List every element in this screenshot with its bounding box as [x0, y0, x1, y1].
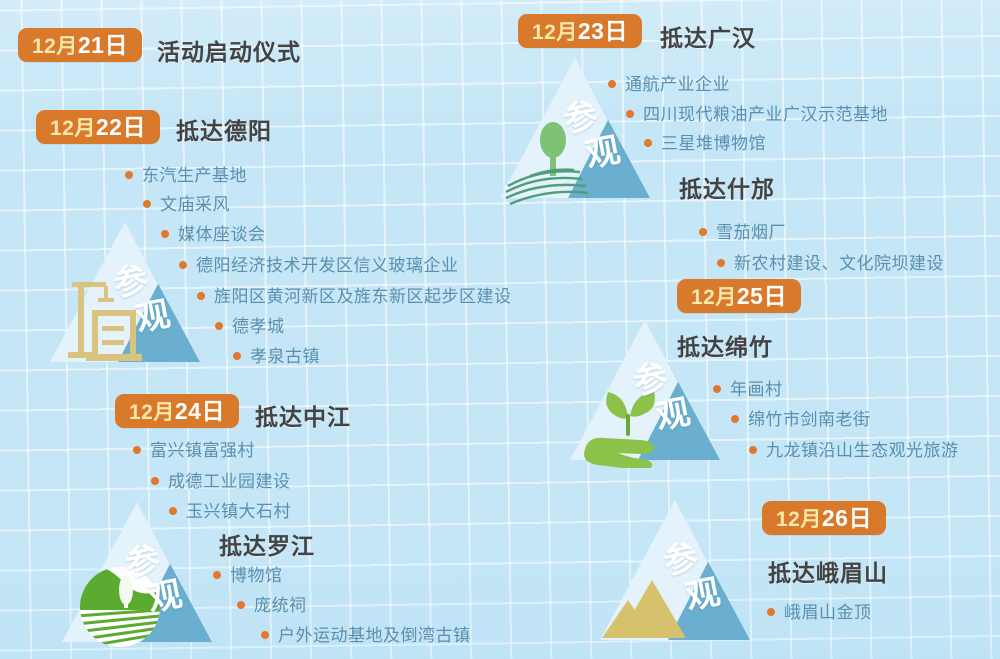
list-item: 峨眉山金顶	[767, 598, 872, 623]
badge-month: 12月	[776, 508, 822, 531]
list-item: 通航产业企业	[608, 70, 730, 95]
list-item: 三星堆博物馆	[644, 129, 766, 154]
list-item-label: 四川现代粮油产业广汉示范基地	[643, 105, 888, 124]
list-item-label: 峨眉山金顶	[784, 603, 872, 622]
list-item: 雪茄烟厂	[699, 218, 786, 243]
list-item: 九龙镇沿山生态观光旅游	[749, 436, 959, 461]
date-badge-dec26: 12月26日	[762, 501, 886, 535]
infographic-canvas: 12月21日 活动启动仪式 12月22日 抵达德阳 参	[0, 0, 1000, 659]
list-item-label: 德孝城	[232, 317, 285, 336]
list-item: 新农村建设、文化院坝建设	[717, 249, 944, 274]
list-item: 旌阳区黄河新区及旌东新区起步区建设	[197, 282, 512, 307]
list-item: 户外运动基地及倒湾古镇	[261, 621, 471, 646]
list-item-label: 绵竹市剑南老街	[748, 410, 871, 429]
badge-day: 26日	[822, 505, 872, 531]
emblem-char-1: 参	[561, 99, 601, 139]
bullet-dot	[161, 230, 169, 238]
list-item-label: 庞统祠	[254, 596, 307, 615]
bullet-dot	[233, 352, 241, 360]
badge-month: 12月	[691, 286, 737, 309]
bullet-dot	[151, 477, 159, 485]
list-item: 成德工业园建设	[151, 467, 291, 492]
date-badge-dec25: 12月25日	[677, 279, 801, 313]
list-item: 孝泉古镇	[233, 342, 320, 367]
emblem-char-1: 参	[631, 361, 671, 401]
list-item: 富兴镇富强村	[133, 436, 255, 461]
list-item-label: 三星堆博物馆	[661, 134, 766, 153]
badge-month: 12月	[50, 117, 96, 140]
list-item-label: 通航产业企业	[625, 75, 730, 94]
badge-day: 22日	[96, 114, 146, 140]
bullet-dot	[717, 259, 725, 267]
list-item-label: 新农村建设、文化院坝建设	[734, 254, 944, 273]
list-item-label: 九龙镇沿山生态观光旅游	[766, 441, 959, 460]
bullet-dot	[713, 385, 721, 393]
list-item-label: 富兴镇富强村	[150, 441, 255, 460]
date-badge-dec21: 12月21日	[18, 28, 142, 62]
list-item-label: 文庙采风	[160, 195, 230, 214]
bullet-dot	[215, 322, 223, 330]
emblem-char-2: 观	[653, 396, 693, 436]
bullet-dot	[237, 601, 245, 609]
section-heading-shifang: 抵达什邡	[679, 170, 775, 204]
bullet-dot	[644, 139, 652, 147]
list-item-label: 孝泉古镇	[250, 347, 320, 366]
emblem-char-1: 参	[111, 263, 151, 303]
list-item: 德孝城	[215, 312, 285, 337]
list-item-label: 成德工业园建设	[168, 472, 291, 491]
list-item-label: 旌阳区黄河新区及旌东新区起步区建设	[214, 287, 512, 306]
list-item-label: 雪茄烟厂	[716, 223, 786, 242]
date-badge-dec23: 12月23日	[518, 14, 642, 48]
badge-month: 12月	[32, 35, 78, 58]
bullet-dot	[125, 171, 133, 179]
badge-month: 12月	[129, 401, 175, 424]
bullet-dot	[626, 110, 634, 118]
list-item: 德阳经济技术开发区信义玻璃企业	[179, 251, 459, 276]
bullet-dot	[197, 292, 205, 300]
emblem-char-2: 观	[683, 576, 723, 616]
list-item-label: 年画村	[730, 380, 783, 399]
list-item: 媒体座谈会	[161, 220, 266, 245]
date-badge-dec24: 12月24日	[115, 394, 239, 428]
bullet-dot	[767, 608, 775, 616]
badge-day: 24日	[175, 398, 225, 424]
emblem-char-1: 参	[123, 543, 163, 583]
badge-day: 21日	[78, 32, 128, 58]
bullet-dot	[731, 415, 739, 423]
emblem-char-2: 观	[145, 578, 185, 618]
bullet-dot	[749, 446, 757, 454]
date-badge-dec22: 12月22日	[36, 110, 160, 144]
bullet-dot	[261, 631, 269, 639]
section-heading-dec23: 抵达广汉	[660, 19, 756, 53]
bullet-dot	[179, 261, 187, 269]
list-item-label: 德阳经济技术开发区信义玻璃企业	[196, 256, 459, 275]
section-heading-dec21: 活动启动仪式	[157, 33, 301, 67]
visit-emblem-dec26: 参 观	[600, 500, 780, 648]
list-item-label: 媒体座谈会	[178, 225, 266, 244]
list-item: 四川现代粮油产业广汉示范基地	[626, 100, 888, 125]
emblem-char-1: 参	[661, 541, 701, 581]
list-item-label: 博物馆	[230, 566, 283, 585]
list-item: 博物馆	[213, 561, 283, 586]
list-item: 东汽生产基地	[125, 161, 247, 186]
bullet-dot	[143, 200, 151, 208]
section-heading-dec26: 抵达峨眉山	[768, 554, 888, 588]
section-heading-dec24: 抵达中江	[255, 398, 351, 432]
section-heading-dec22: 抵达德阳	[176, 112, 272, 146]
list-item: 庞统祠	[237, 591, 307, 616]
badge-day: 23日	[578, 18, 628, 44]
list-item: 文庙采风	[143, 190, 230, 215]
list-item: 年画村	[713, 375, 783, 400]
badge-day: 25日	[737, 283, 787, 309]
bullet-dot	[133, 446, 141, 454]
bullet-dot	[608, 80, 616, 88]
list-item: 绵竹市剑南老街	[731, 405, 871, 430]
list-item-label: 东汽生产基地	[142, 166, 247, 185]
emblem-char-2: 观	[583, 134, 623, 174]
emblem-char-2: 观	[133, 298, 173, 338]
badge-month: 12月	[532, 21, 578, 44]
bullet-dot	[699, 228, 707, 236]
bullet-dot	[213, 571, 221, 579]
list-item-label: 户外运动基地及倒湾古镇	[278, 626, 471, 645]
